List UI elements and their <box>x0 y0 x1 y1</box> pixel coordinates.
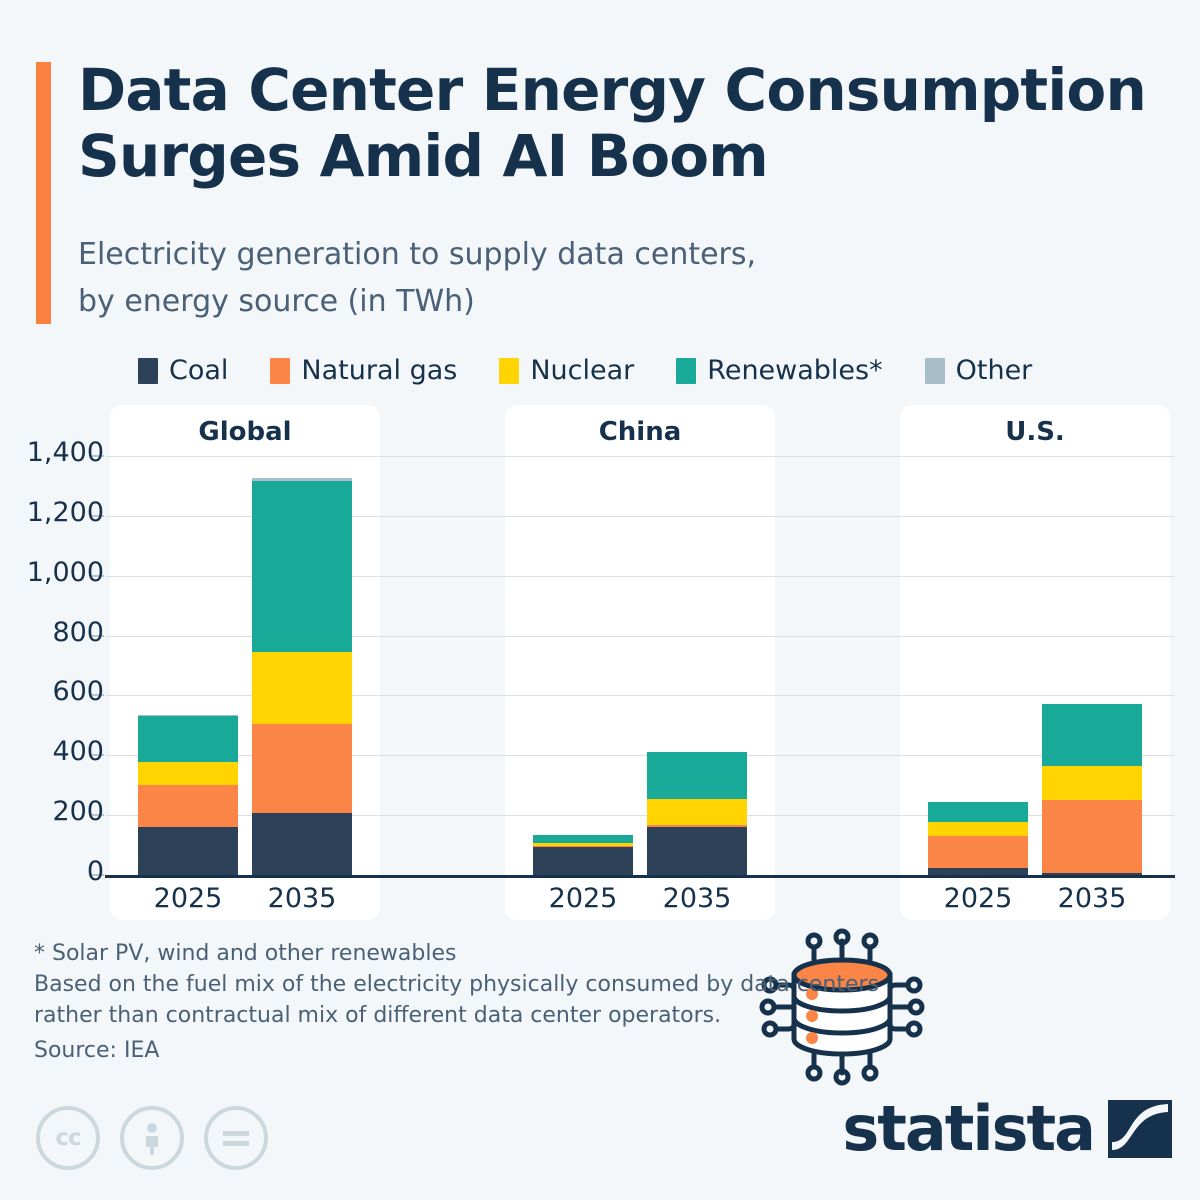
y-tick-label: 600 <box>0 676 104 707</box>
bar-segment-renewables <box>533 835 633 842</box>
cc-attribution-icon[interactable] <box>120 1106 184 1170</box>
legend-label: Natural gas <box>301 355 457 386</box>
chart-area: Global China U.S. 02004006008001,0001,20… <box>0 405 1200 925</box>
bar-segment-nuclear <box>252 652 352 725</box>
bar-segment-natural-gas <box>928 836 1028 868</box>
legend-label: Other <box>956 355 1033 386</box>
statista-wordmark: statista <box>842 1098 1094 1160</box>
x-tick-label: 2035 <box>1022 883 1162 914</box>
legend-label: Nuclear <box>530 355 634 386</box>
legend-label: Coal <box>169 355 228 386</box>
x-tick-label: 2035 <box>627 883 767 914</box>
bar-segment-coal <box>1042 873 1142 875</box>
infographic-root: Data Center Energy Consumption Surges Am… <box>0 0 1200 1200</box>
bar-segment-coal <box>138 827 238 875</box>
person-glyph <box>137 1121 167 1155</box>
footnote-line-3: rather than contractual mix of different… <box>34 1000 1034 1031</box>
page-subtitle: Electricity generation to supply data ce… <box>78 232 1078 325</box>
bar-global-2025[interactable] <box>138 715 238 875</box>
y-tick-label: 0 <box>0 856 104 887</box>
bar-china-2035[interactable] <box>647 752 747 875</box>
bar-segment-nuclear <box>647 799 747 824</box>
legend-item-other[interactable]: Other <box>925 355 1033 386</box>
bar-us-2035[interactable] <box>1042 704 1142 875</box>
bar-china-2025[interactable] <box>533 835 633 875</box>
grid-line <box>105 456 1175 457</box>
legend-item-coal[interactable]: Coal <box>138 355 228 386</box>
footnote-line-1: * Solar PV, wind and other renewables <box>34 938 1034 969</box>
legend-swatch-icon <box>925 358 945 384</box>
bar-segment-nuclear <box>928 822 1028 835</box>
y-tick-label: 1,000 <box>0 557 104 588</box>
footnote: * Solar PV, wind and other renewables Ba… <box>34 938 1034 1032</box>
bar-segment-nuclear <box>138 762 238 785</box>
statista-mark-icon <box>1108 1100 1172 1158</box>
bar-segment-renewables <box>647 752 747 799</box>
bar-segment-renewables <box>928 802 1028 822</box>
chart-legend: CoalNatural gasNuclearRenewables*Other <box>138 355 1074 386</box>
footnote-line-2: Based on the fuel mix of the electricity… <box>34 969 1034 1000</box>
legend-item-nuclear[interactable]: Nuclear <box>499 355 634 386</box>
legend-swatch-icon <box>138 358 158 384</box>
subtitle-line-2: by energy source (in TWh) <box>78 279 1078 326</box>
bar-segment-renewables <box>252 481 352 652</box>
creative-commons-badges: cc <box>36 1106 268 1170</box>
bar-global-2035[interactable] <box>252 478 352 875</box>
legend-item-natural-gas[interactable]: Natural gas <box>270 355 457 386</box>
x-tick-label: 2035 <box>232 883 372 914</box>
source-label: Source: IEA <box>34 1038 159 1063</box>
y-tick-label: 1,200 <box>0 497 104 528</box>
legend-swatch-icon <box>676 358 696 384</box>
y-tick-label: 400 <box>0 736 104 767</box>
legend-item-renewables[interactable]: Renewables* <box>676 355 882 386</box>
y-tick-label: 800 <box>0 617 104 648</box>
bar-segment-nuclear <box>1042 766 1142 800</box>
bar-us-2025[interactable] <box>928 802 1028 875</box>
bar-segment-coal <box>533 847 633 875</box>
legend-swatch-icon <box>499 358 519 384</box>
cc-icon[interactable]: cc <box>36 1106 100 1170</box>
bar-segment-renewables <box>1042 704 1142 765</box>
cc-noderivs-icon[interactable] <box>204 1106 268 1170</box>
title-line-2: Surges Amid AI Boom <box>78 124 1188 190</box>
bar-segment-natural-gas <box>138 785 238 827</box>
title-line-1: Data Center Energy Consumption <box>78 56 1146 124</box>
bar-segment-coal <box>252 813 352 875</box>
page-title: Data Center Energy Consumption Surges Am… <box>78 58 1188 189</box>
bar-segment-natural-gas <box>1042 800 1142 873</box>
y-tick-label: 1,400 <box>0 437 104 468</box>
bar-segment-renewables <box>138 716 238 761</box>
statista-logo: statista <box>842 1098 1172 1160</box>
subtitle-line-1: Electricity generation to supply data ce… <box>78 237 756 272</box>
axis-baseline <box>105 875 1175 878</box>
bar-segment-coal <box>647 827 747 875</box>
y-tick-label: 200 <box>0 796 104 827</box>
accent-bar <box>36 62 51 324</box>
equals-glyph <box>220 1128 252 1148</box>
legend-swatch-icon <box>270 358 290 384</box>
bar-segment-coal <box>928 868 1028 875</box>
bar-segment-natural-gas <box>252 724 352 812</box>
legend-label: Renewables* <box>707 355 882 386</box>
